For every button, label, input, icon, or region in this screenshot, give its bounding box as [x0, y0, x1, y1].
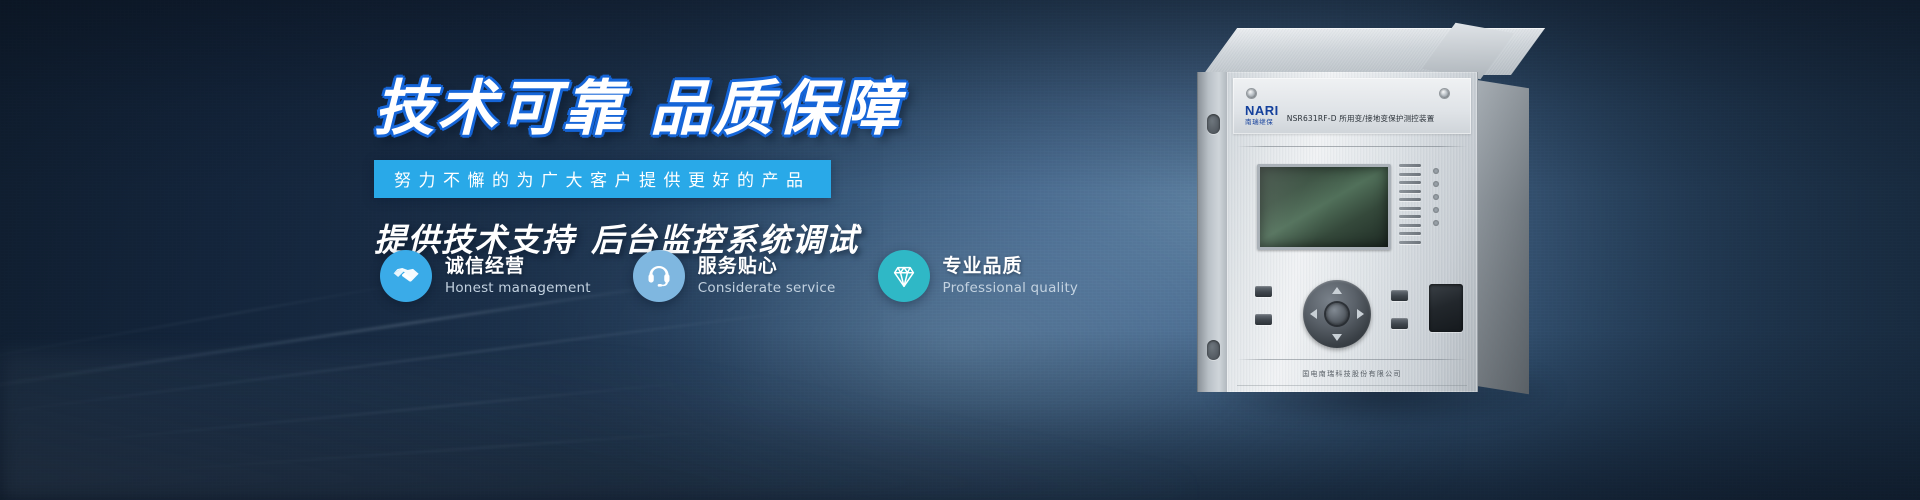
device-function-button[interactable]: [1391, 290, 1408, 301]
chevron-down-icon[interactable]: [1332, 334, 1342, 341]
feature-title-cn: 诚信经营: [445, 255, 591, 277]
subtitle-bar: 努力不懈的为广大客户提供更好的产品: [374, 160, 831, 198]
device-brand-block: NARI 南瑞继保 NSR631RF-D 所用变/接地变保护测控装置: [1245, 104, 1434, 125]
device-rack-ear: [1197, 72, 1228, 392]
status-led: [1433, 207, 1439, 213]
vent-slot: [1399, 215, 1421, 218]
brand-name-cn: 南瑞继保: [1245, 119, 1279, 126]
headset-icon: [633, 250, 685, 302]
vent-slot: [1399, 198, 1421, 201]
device-side-panel: [1477, 80, 1529, 394]
vent-slot: [1399, 207, 1421, 210]
device-status-led-strip: [1433, 168, 1439, 226]
feature-text: 专业品质 Professional quality: [943, 255, 1079, 296]
feature-text: 服务贴心 Considerate service: [698, 255, 836, 296]
rack-mount-hole: [1207, 340, 1220, 360]
device-lcd-screen: [1257, 164, 1391, 250]
status-led: [1433, 194, 1439, 200]
feature-title-cn: 专业品质: [943, 255, 1079, 277]
feature-item-considerate-service[interactable]: 服务贴心 Considerate service: [633, 250, 836, 302]
vent-slot: [1399, 224, 1421, 227]
feature-item-honest-management[interactable]: 诚信经营 Honest management: [380, 250, 591, 302]
product-device-image: NARI 南瑞继保 NSR631RF-D 所用变/接地变保护测控装置: [1195, 28, 1615, 448]
device-dpad[interactable]: [1303, 280, 1371, 348]
panel-divider: [1237, 146, 1467, 147]
panel-divider: [1237, 359, 1467, 360]
device-communication-port: [1429, 284, 1463, 332]
screen-glare: [1260, 167, 1388, 247]
feature-title-en: Professional quality: [943, 281, 1079, 297]
feature-list: 诚信经营 Honest management 服务贴心 Considerate …: [380, 250, 1078, 302]
vent-slot: [1399, 190, 1421, 193]
feature-title-en: Considerate service: [698, 281, 836, 297]
status-led: [1433, 168, 1439, 174]
chevron-up-icon[interactable]: [1332, 287, 1342, 294]
brand-name-en: NARI: [1245, 104, 1279, 117]
device-front-panel: NARI 南瑞继保 NSR631RF-D 所用变/接地变保护测控装置: [1227, 72, 1478, 392]
vent-slot: [1399, 164, 1421, 167]
handshake-icon: [380, 250, 432, 302]
vent-slot: [1399, 232, 1421, 235]
headline-primary-part1: 技术可靠: [374, 74, 626, 144]
vent-slot: [1399, 173, 1421, 176]
chevron-right-icon[interactable]: [1357, 309, 1364, 319]
vent-slot: [1399, 181, 1421, 184]
device-company-label: 国电南瑞科技股份有限公司: [1227, 369, 1477, 379]
vent-slot: [1399, 241, 1421, 244]
promo-banner: 技术可靠品质保障 努力不懈的为广大客户提供更好的产品 提供技术支持后台监控系统调…: [0, 0, 1920, 500]
device-vent-grille: [1399, 164, 1421, 244]
feature-title-en: Honest management: [445, 281, 591, 297]
nari-logo: NARI 南瑞继保: [1245, 104, 1279, 125]
copy-block: 技术可靠品质保障 努力不懈的为广大客户提供更好的产品 提供技术支持后台监控系统调…: [374, 78, 914, 261]
device-model-label: NSR631RF-D 所用变/接地变保护测控装置: [1287, 113, 1435, 125]
chevron-left-icon[interactable]: [1310, 309, 1317, 319]
diamond-icon: [878, 250, 930, 302]
headline-primary-part2: 品质保障: [650, 74, 902, 144]
panel-divider: [1237, 385, 1467, 386]
device-function-button[interactable]: [1391, 318, 1408, 329]
status-led: [1433, 220, 1439, 226]
status-led: [1433, 181, 1439, 187]
headline-primary: 技术可靠品质保障: [374, 78, 914, 142]
screw-icon: [1440, 89, 1449, 98]
device-control-area: [1241, 280, 1463, 350]
feature-item-professional-quality[interactable]: 专业品质 Professional quality: [878, 250, 1079, 302]
device-ok-button[interactable]: [1326, 303, 1348, 325]
rack-mount-hole: [1207, 114, 1220, 134]
device-function-button[interactable]: [1255, 286, 1272, 297]
screw-icon: [1247, 89, 1256, 98]
subtitle-text: 努力不懈的为广大客户提供更好的产品: [394, 166, 811, 191]
device-side-shading: [1477, 80, 1529, 394]
device-function-button[interactable]: [1255, 314, 1272, 325]
feature-title-cn: 服务贴心: [698, 255, 836, 277]
feature-text: 诚信经营 Honest management: [445, 255, 591, 296]
